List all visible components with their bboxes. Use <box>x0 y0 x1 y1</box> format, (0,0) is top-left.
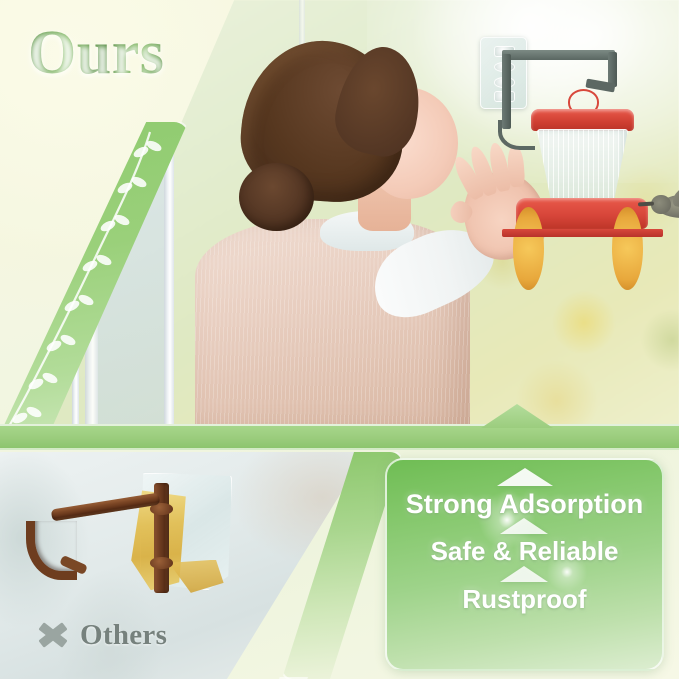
hook-shank <box>502 54 511 128</box>
benefit-item-2: Safe & Reliable <box>431 518 619 565</box>
page-title: Ours <box>28 22 164 84</box>
benefit-item-3: Rustproof <box>462 566 586 613</box>
benefit-item-1: Strong Adsorption <box>406 468 643 518</box>
ours-section: Ours <box>0 0 679 436</box>
toddler-figure <box>177 35 489 436</box>
benefit-label: Safe & Reliable <box>431 538 619 565</box>
benefit-label: Rustproof <box>462 586 586 613</box>
section-divider-band <box>0 424 679 450</box>
child-hair-bun <box>239 163 314 231</box>
product-comparison-poster: Ours <box>0 0 679 679</box>
feeder-perch <box>502 229 663 237</box>
benefit-label: Strong Adsorption <box>406 490 643 518</box>
triangle-up-icon <box>497 468 553 486</box>
hook-curl <box>498 120 535 151</box>
bird-beak <box>638 201 654 206</box>
rusted-rivet <box>150 557 173 569</box>
benefits-list: Strong Adsorption Safe & Reliable Rustpr… <box>387 460 662 669</box>
feeder-reservoir <box>537 129 629 203</box>
feeder-flower-port <box>612 207 643 290</box>
rusted-hook-curve <box>26 521 76 580</box>
benefits-card: Strong Adsorption Safe & Reliable Rustpr… <box>385 458 664 671</box>
x-cross-icon <box>36 618 70 652</box>
others-and-benefits-section: Others Strong Adsorption Safe & Reliable… <box>0 448 679 679</box>
feeder-flower-port <box>513 207 544 290</box>
hook-arm <box>502 50 616 60</box>
triangle-up-icon <box>500 566 548 582</box>
triangle-up-icon <box>500 518 548 534</box>
hummingbird <box>648 185 679 224</box>
others-label-group: Others <box>36 618 167 652</box>
others-label-text: Others <box>80 619 167 652</box>
window-frame-bar <box>164 0 174 436</box>
bird-head <box>651 195 671 213</box>
rusted-hook-product <box>22 470 232 598</box>
hummingbird-feeder-assembly <box>465 37 648 255</box>
feeder-lid <box>531 109 634 131</box>
reservoir-ribs <box>538 130 628 202</box>
